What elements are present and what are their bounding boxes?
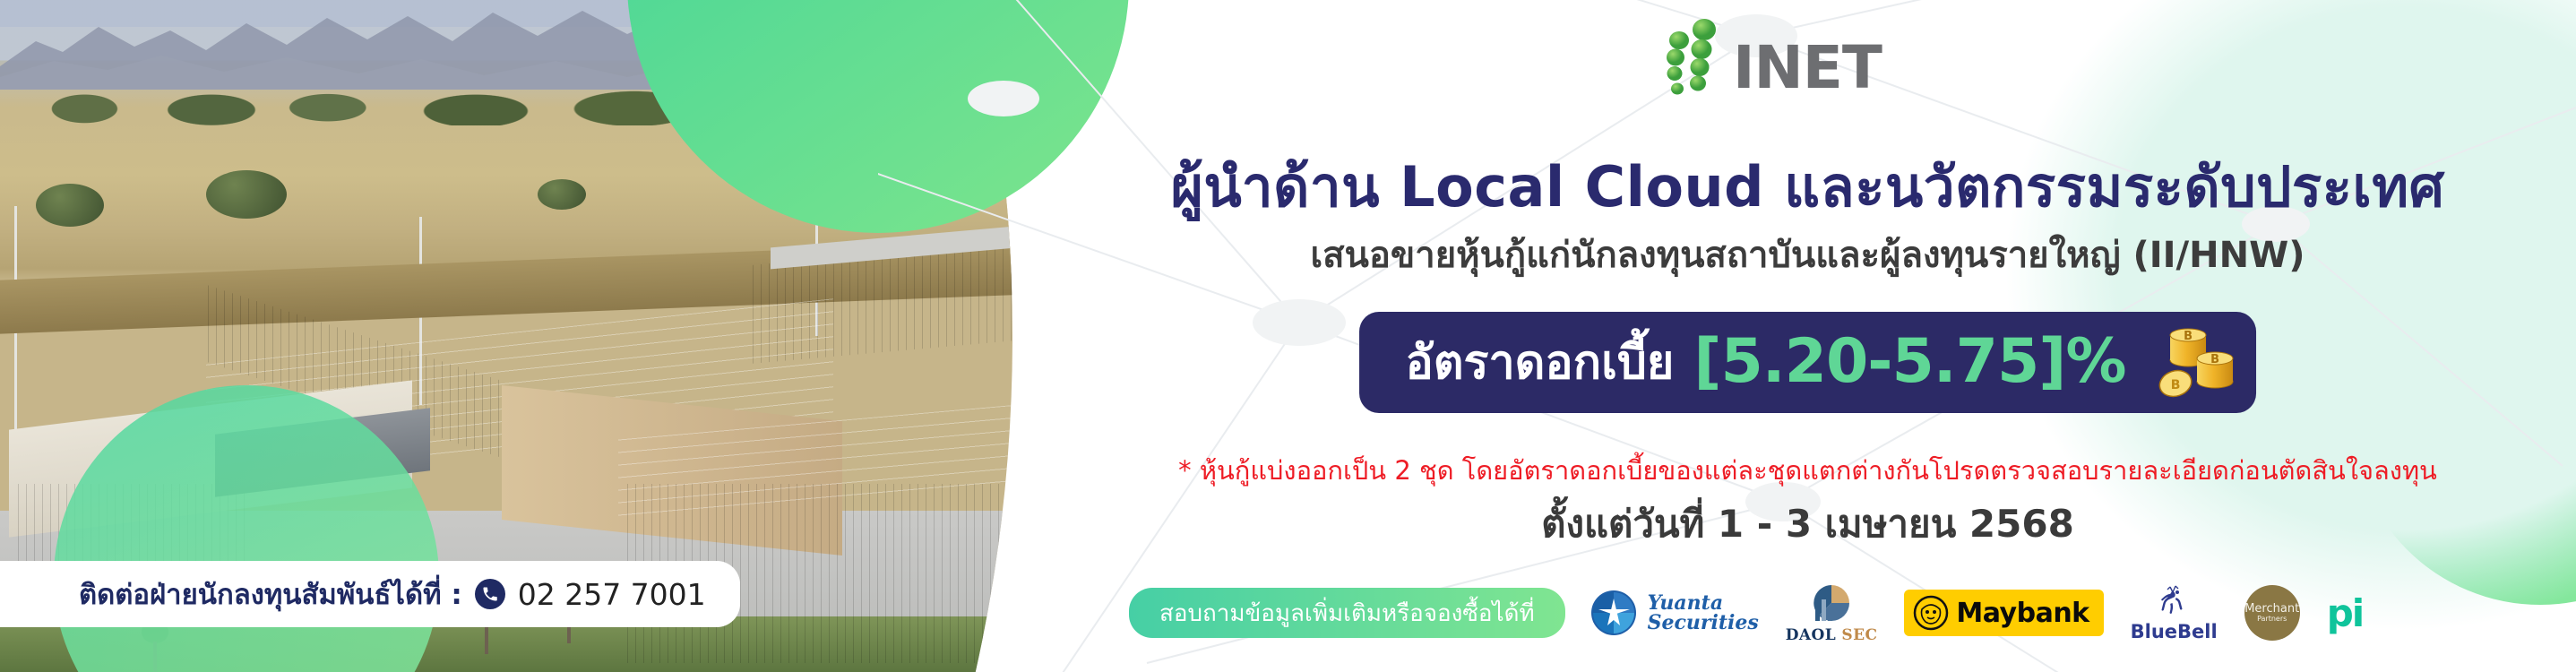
bluebell-wordmark: BlueBell (2131, 621, 2218, 642)
partner-logo-list: Yuanta Securities DAOL (1590, 582, 2554, 644)
yuanta-line1: Yuanta (1648, 593, 1759, 613)
tree (538, 179, 586, 210)
svg-text:B: B (2211, 353, 2220, 366)
phone-icon (475, 579, 505, 609)
interest-rate-badge: อัตราดอกเบี้ย [5.20-5.75]% B (1359, 312, 2257, 413)
enquire-button[interactable]: สอบถามข้อมูลเพิ่มเติมหรือจองซื้อได้ที่ (1129, 588, 1565, 638)
gold-coin-stack-icon: B B B (2149, 314, 2238, 400)
maybank-wordmark: Maybank (1956, 598, 2089, 629)
partner-logo-daol[interactable]: DAOL SEC (1786, 582, 1878, 644)
partner-logo-pi[interactable]: pi (2327, 591, 2363, 635)
svg-text:B: B (2184, 330, 2193, 343)
partner-logo-yuanta[interactable]: Yuanta Securities (1590, 590, 1759, 636)
offering-date: ตั้งแต่วันที่ 1 - 3 เมษายน 2568 (1039, 495, 2576, 554)
rate-label: อัตราดอกเบี้ย (1406, 324, 1675, 399)
inet-dots-icon (1658, 18, 1727, 97)
partner-logo-bluebell[interactable]: BlueBell (2131, 584, 2218, 642)
partners-bar: สอบถามข้อมูลเพิ่มเติมหรือจองซื้อได้ที่ (1129, 581, 2554, 645)
daol-line1: DAOL (1786, 626, 1836, 644)
inet-logo-text: INET (1733, 40, 1882, 97)
yuanta-star-icon (1590, 590, 1637, 636)
phone-glyph (481, 585, 499, 603)
contact-phone-number: 02 257 7001 (518, 577, 706, 612)
daol-circle-icon (1808, 582, 1855, 625)
svg-text:B: B (2171, 378, 2181, 392)
investor-relations-contact: ติดต่อฝ่ายนักลงทุนสัมพันธ์ได้ที่ : 02 25… (0, 561, 740, 627)
inet-logo: INET (1658, 18, 1882, 97)
yuanta-line2: Securities (1648, 613, 1759, 633)
content-column: INET ผู้นำด้าน Local Cloud และนวัตกรรมระ… (1039, 0, 2576, 672)
promo-banner: INET ผู้นำด้าน Local Cloud และนวัตกรรมระ… (0, 0, 2576, 672)
bluebell-deer-icon (2153, 584, 2194, 620)
pi-wordmark: pi (2327, 591, 2363, 635)
merchant-line2: Partners (2257, 616, 2287, 623)
partner-logo-maybank[interactable]: Maybank (1904, 590, 2103, 636)
rate-value: [5.20-5.75]% (1693, 326, 2125, 397)
tree (36, 184, 104, 227)
tree (206, 170, 287, 219)
page-title: ผู้นำด้าน Local Cloud และนวัตกรรมระดับปร… (1039, 143, 2576, 231)
contact-label: ติดต่อฝ่ายนักลงทุนสัมพันธ์ได้ที่ : (79, 572, 462, 616)
daol-line2: SEC (1841, 626, 1877, 644)
disclaimer-text: * หุ้นกู้แบ่งออกเป็น 2 ชุด โดยอัตราดอกเบ… (1039, 450, 2576, 491)
page-subtitle: เสนอขายหุ้นกู้แก่นักลงทุนสถาบันและผู้ลงท… (1039, 226, 2576, 283)
partner-logo-merchant[interactable]: Merchant Partners (2244, 585, 2300, 641)
maybank-tiger-icon (1913, 595, 1949, 631)
merchant-line1: Merchant (2244, 603, 2299, 616)
